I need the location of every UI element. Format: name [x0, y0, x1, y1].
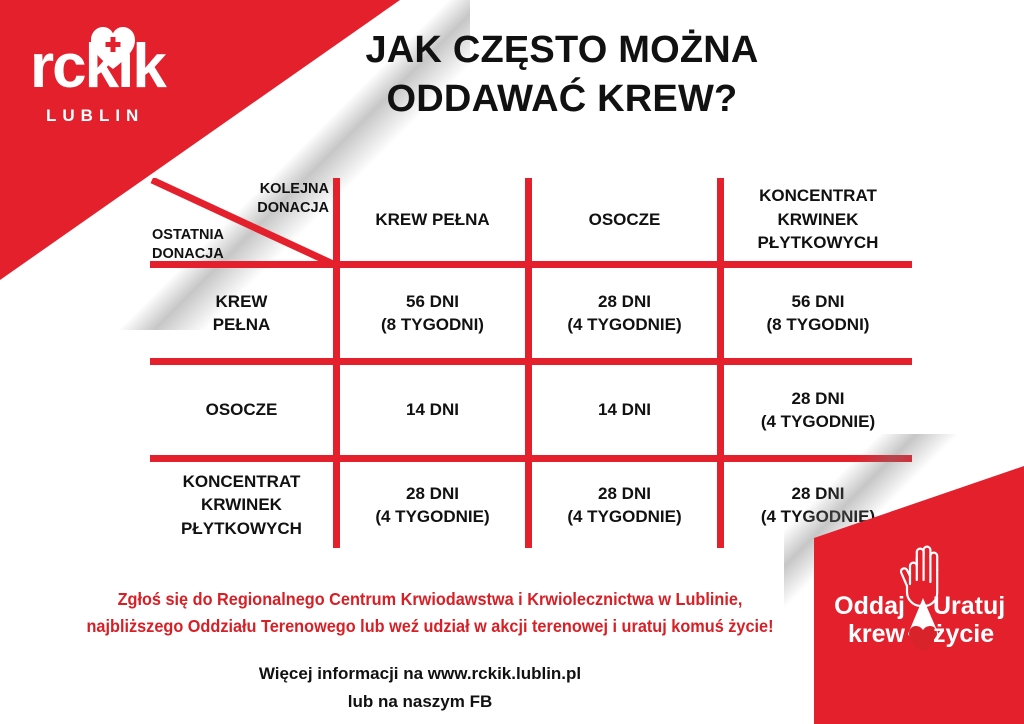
rckik-logo: rckik LUBLIN	[30, 28, 210, 126]
cell-0-1-days: 28 DNI	[598, 292, 651, 311]
table-cell-2-0: 28 DNI (4 TYGODNIE)	[340, 462, 525, 548]
row-header-koncentrat-krwinek-plytkowych: KONCENTRAT KRWINEK PŁYTKOWYCH	[150, 462, 333, 548]
cell-1-1-days: 14 DNI	[598, 400, 651, 419]
row-head-0-line-1: KREW	[216, 292, 268, 311]
oddaj-krew-badge: Oddaj krew Uratuj życie	[814, 534, 1024, 724]
corner-next-line-2: DONACJA	[257, 200, 329, 216]
cell-0-2-weeks: (8 TYGODNI)	[767, 315, 870, 334]
corner-last-donation-label: OSTATNIA DONACJA	[152, 226, 264, 264]
row-head-2-line-1: KONCENTRAT	[183, 472, 301, 491]
table-cell-0-2: 56 DNI (8 TYGODNI)	[724, 268, 912, 358]
cell-1-0-days: 14 DNI	[406, 400, 459, 419]
table-cell-1-1: 14 DNI	[532, 365, 717, 455]
title-line-1: JAK CZĘSTO MOŻNA	[262, 26, 862, 75]
page-title: JAK CZĘSTO MOŻNA ODDAWAĆ KREW?	[262, 26, 862, 125]
grid-line-v-1	[525, 178, 532, 548]
grid-line-v-0	[333, 178, 340, 548]
corner-next-donation-label: KOLEJNA DONACJA	[221, 180, 329, 218]
badge-left-column: Oddaj krew	[823, 592, 919, 648]
badge-right-column: Uratuj życie	[919, 592, 1015, 648]
row-header-osocze: OSOCZE	[150, 365, 333, 455]
title-line-2: ODDAWAĆ KREW?	[262, 75, 862, 124]
cell-2-0-days: 28 DNI	[406, 484, 459, 503]
cell-1-2-days: 28 DNI	[792, 389, 845, 408]
corner-last-line-2: DONACJA	[152, 246, 224, 262]
donation-interval-table: KOLEJNA DONACJA OSTATNIA DONACJA KREW PE…	[150, 178, 912, 548]
more-info-text: Więcej informacji na www.rckik.lublin.pl…	[0, 660, 840, 716]
grid-line-v-2	[717, 178, 724, 548]
cell-0-0-days: 56 DNI	[406, 292, 459, 311]
row-header-krew-pelna: KREW PEŁNA	[150, 268, 333, 358]
badge-left-line-1: Oddaj	[823, 592, 905, 620]
call-to-action-text: Zgłoś się do Regionalnego Centrum Krwiod…	[30, 586, 830, 640]
table-cell-2-1: 28 DNI (4 TYGODNIE)	[532, 462, 717, 548]
table-corner-cell: KOLEJNA DONACJA OSTATNIA DONACJA	[150, 178, 333, 264]
table-cell-1-0: 14 DNI	[340, 365, 525, 455]
row-head-0-line-2: PEŁNA	[213, 315, 271, 334]
table-cell-1-2: 28 DNI (4 TYGODNIE)	[724, 365, 912, 455]
info-line-2: lub na naszym FB	[0, 688, 840, 716]
cell-0-0-weeks: (8 TYGODNI)	[381, 315, 484, 334]
cell-0-1-weeks: (4 TYGODNIE)	[567, 315, 681, 334]
row-head-2-line-3: PŁYTKOWYCH	[181, 519, 302, 538]
info-line-1: Więcej informacji na www.rckik.lublin.pl	[0, 660, 840, 688]
table-cell-0-0: 56 DNI (8 TYGODNI)	[340, 268, 525, 358]
row-head-1-line-1: OSOCZE	[206, 400, 278, 419]
column-header-osocze: OSOCZE	[532, 178, 717, 261]
badge-right-line-1: Uratuj	[933, 592, 1015, 620]
badge-slogan: Oddaj krew Uratuj życie	[814, 592, 1024, 648]
column-header-koncentrat-krwinek-plytkowych: KONCENTRAT KRWINEK PŁYTKOWYCH	[724, 178, 912, 261]
cta-line-1: Zgłoś się do Regionalnego Centrum Krwiod…	[30, 586, 830, 613]
badge-left-line-2: krew	[823, 620, 905, 648]
heart-with-cross-icon	[90, 26, 136, 70]
cta-line-2: najbliższego Oddziału Terenowego lub weź…	[30, 613, 830, 640]
table-cell-0-1: 28 DNI (4 TYGODNIE)	[532, 268, 717, 358]
badge-right-line-2: życie	[933, 620, 1015, 648]
cell-2-1-days: 28 DNI	[598, 484, 651, 503]
cell-0-2-days: 56 DNI	[792, 292, 845, 311]
bottom-right-red-corner: Oddaj krew Uratuj życie	[814, 466, 1024, 724]
logo-city: LUBLIN	[46, 106, 210, 126]
logo-mark: rckik	[30, 28, 180, 100]
col-head-2-line-3: PŁYTKOWYCH	[758, 233, 879, 252]
col-head-2-line-1: KONCENTRAT	[759, 186, 877, 205]
row-head-2-line-2: KRWINEK	[201, 495, 282, 514]
corner-last-line-1: OSTATNIA	[152, 227, 224, 243]
cell-2-1-weeks: (4 TYGODNIE)	[567, 507, 681, 526]
poster-canvas: rckik LUBLIN JAK CZĘSTO MOŻNA ODDAWAĆ KR…	[0, 0, 1024, 724]
col-head-0-line-1: KREW PEŁNA	[375, 210, 489, 229]
col-head-2-line-2: KRWINEK	[778, 210, 859, 229]
cell-1-2-weeks: (4 TYGODNIE)	[761, 412, 875, 431]
corner-next-line-1: KOLEJNA	[260, 181, 329, 197]
col-head-1-line-1: OSOCZE	[589, 210, 661, 229]
cell-2-0-weeks: (4 TYGODNIE)	[375, 507, 489, 526]
column-header-krew-pelna: KREW PEŁNA	[340, 178, 525, 261]
